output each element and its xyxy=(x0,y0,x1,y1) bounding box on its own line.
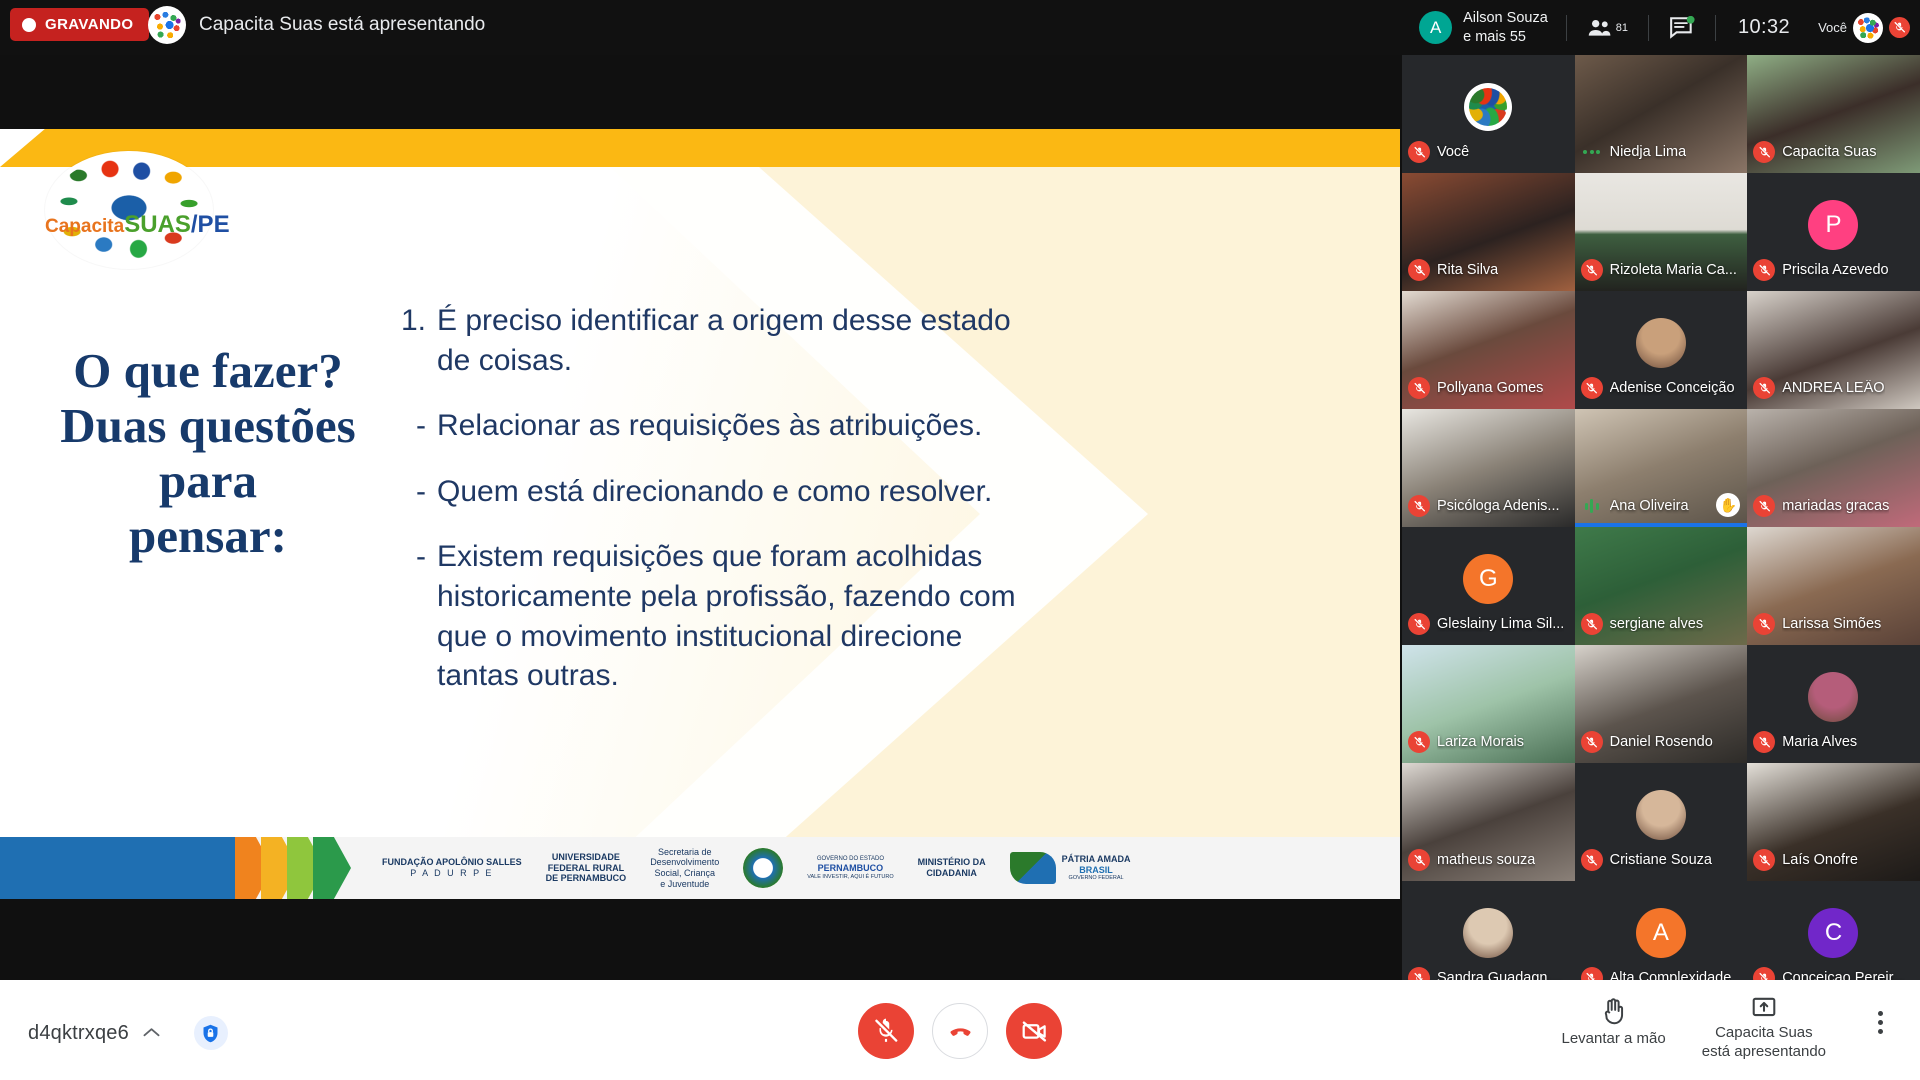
participant-tile[interactable]: Adenise Conceição xyxy=(1575,291,1748,409)
mic-off-icon xyxy=(1408,731,1430,753)
participant-name: Rita Silva xyxy=(1437,262,1498,278)
slide-footer-logos: FUNDAÇÃO APOLÔNIO SALLES P A D U R P E U… xyxy=(0,837,1400,899)
participant-name: Você xyxy=(1437,144,1469,160)
host-more-count: e mais 55 xyxy=(1463,28,1548,46)
slide: CapacitaSUAS/PE O que fazer? Duas questõ… xyxy=(0,129,1400,899)
participant-name-bar: Laís Onofre xyxy=(1747,839,1920,881)
participant-name: Lariza Morais xyxy=(1437,734,1524,750)
participant-tile[interactable]: Maria Alves xyxy=(1747,645,1920,763)
slide-logo: CapacitaSUAS/PE xyxy=(45,151,213,269)
slide-bullet-item: - Relacionar as requisições às atribuiçõ… xyxy=(392,406,1032,446)
recording-badge: GRAVANDO xyxy=(10,8,149,41)
participant-tile[interactable]: Daniel Rosendo xyxy=(1575,645,1748,763)
host-avatar: A xyxy=(1419,11,1452,44)
participant-grid[interactable]: VocêNiedja LimaCapacita SuasRita SilvaRi… xyxy=(1402,55,1920,980)
mic-off-icon xyxy=(1753,141,1775,163)
participant-avatar xyxy=(1463,908,1513,958)
footer-logo-row: FUNDAÇÃO APOLÔNIO SALLES P A D U R P E U… xyxy=(350,847,1400,889)
participant-name-bar: Maria Alves xyxy=(1747,721,1920,763)
mic-off-icon xyxy=(1753,259,1775,281)
capacita-suas-flags-icon xyxy=(45,151,213,269)
meeting-code-block[interactable]: d4qktrxqe6 xyxy=(28,1016,228,1050)
participant-tile[interactable]: Laís Onofre xyxy=(1747,763,1920,881)
participant-name: Daniel Rosendo xyxy=(1610,734,1713,750)
participant-name-bar: sergiane alves xyxy=(1575,603,1748,645)
participant-avatar xyxy=(1636,318,1686,368)
participant-name: ANDREA LEÂO xyxy=(1782,380,1884,396)
participant-tile[interactable]: Rita Silva xyxy=(1402,173,1575,291)
participant-name-bar: Niedja Lima xyxy=(1575,131,1748,173)
top-bar: GRAVANDO Capacita Suas está apresentando… xyxy=(0,0,1920,55)
participant-avatar: C xyxy=(1808,908,1858,958)
participant-tile[interactable]: Ana Oliveira✋ xyxy=(1575,409,1748,527)
participant-name: Alta Complexidade xyxy=(1610,970,1732,980)
mic-off-icon xyxy=(1753,849,1775,871)
participant-name-bar: Conceicao Pereir... xyxy=(1747,957,1920,980)
capacita-suas-logo-icon xyxy=(148,6,186,44)
kebab-menu-icon[interactable] xyxy=(1862,996,1898,1048)
participants-button[interactable]: 81 xyxy=(1567,18,1648,38)
mic-off-icon xyxy=(1581,967,1603,980)
participant-name: Sandra Guadagna... xyxy=(1437,970,1567,980)
participant-name: Maria Alves xyxy=(1782,734,1857,750)
bullet-marker: - xyxy=(392,406,426,446)
participant-tile[interactable]: CConceicao Pereir... xyxy=(1747,881,1920,980)
participant-name: Laís Onofre xyxy=(1782,852,1858,868)
footer-logo-fundacao-apolonio-salles: FUNDAÇÃO APOLÔNIO SALLES P A D U R P E xyxy=(382,857,522,878)
bullet-text: Relacionar as requisições às atribuições… xyxy=(437,406,982,446)
self-label: Você xyxy=(1818,20,1847,35)
slide-bullet-item: 1. É preciso identificar a origem desse … xyxy=(392,301,1032,380)
self-avatar xyxy=(1853,13,1883,43)
participant-name: matheus souza xyxy=(1437,852,1535,868)
participant-name-bar: Capacita Suas xyxy=(1747,131,1920,173)
mic-off-icon xyxy=(1581,849,1603,871)
participant-avatar xyxy=(1808,672,1858,722)
bullet-marker: 1. xyxy=(392,301,426,380)
participant-tile[interactable]: Pollyana Gomes xyxy=(1402,291,1575,409)
footer-logo-patria-amada-brasil: PÁTRIA AMADA BRASIL GOVERNO FEDERAL xyxy=(1010,852,1131,884)
bottom-bar: d4qktrxqe6 xyxy=(0,980,1920,1080)
participant-tile[interactable]: matheus souza xyxy=(1402,763,1575,881)
present-now-button[interactable]: Capacita Suas está apresentando xyxy=(1702,996,1826,1062)
participant-row: Pollyana GomesAdenise ConceiçãoANDREA LE… xyxy=(1402,291,1920,409)
mic-off-icon xyxy=(1408,495,1430,517)
mic-off-icon xyxy=(1753,377,1775,399)
raise-hand-button[interactable]: Levantar a mão xyxy=(1562,996,1666,1049)
mic-off-icon xyxy=(1753,613,1775,635)
meeting-code: d4qktrxqe6 xyxy=(28,1022,129,1045)
participant-row: matheus souzaCristiane SouzaLaís Onofre xyxy=(1402,763,1920,881)
participant-name-bar: Lariza Morais xyxy=(1402,721,1575,763)
participant-avatar: P xyxy=(1808,200,1858,250)
mic-off-icon xyxy=(1753,495,1775,517)
mic-off-icon xyxy=(1581,259,1603,281)
call-controls xyxy=(858,1003,1062,1059)
raise-hand-label: Levantar a mão xyxy=(1562,1030,1666,1049)
participant-name-bar: Gleslainy Lima Sil... xyxy=(1402,603,1575,645)
participant-tile[interactable]: PPriscila Azevedo xyxy=(1747,173,1920,291)
participant-tile[interactable]: mariadas gracas xyxy=(1747,409,1920,527)
participant-tile[interactable]: GGleslainy Lima Sil... xyxy=(1402,527,1575,645)
participant-tile[interactable]: Niedja Lima xyxy=(1575,55,1748,173)
participant-name-bar: Psicóloga Adenis... xyxy=(1402,485,1575,527)
participant-name-bar: Larissa Simões xyxy=(1747,603,1920,645)
bottom-right-controls: Levantar a mão Capacita Suas está aprese… xyxy=(1562,996,1899,1062)
participant-tile[interactable]: Rizoleta Maria Ca... xyxy=(1575,173,1748,291)
participant-tile[interactable]: Capacita Suas xyxy=(1747,55,1920,173)
participant-row: Rita SilvaRizoleta Maria Ca...PPriscila … xyxy=(1402,173,1920,291)
mic-off-icon xyxy=(1581,731,1603,753)
recording-label: GRAVANDO xyxy=(45,16,133,33)
bullet-text: Existem requisições que foram acolhidas … xyxy=(437,537,1032,695)
slide-bullet-item: - Existem requisições que foram acolhida… xyxy=(392,537,1032,695)
recording-dot-icon xyxy=(22,18,36,32)
participant-tile[interactable]: Larissa Simões xyxy=(1747,527,1920,645)
presentation-stage[interactable]: CapacitaSUAS/PE O que fazer? Duas questõ… xyxy=(0,129,1400,899)
participant-name: Priscila Azevedo xyxy=(1782,262,1888,278)
footer-logo-ufrpe: UNIVERSIDADE FEDERAL RURAL DE PERNAMBUCO xyxy=(546,852,627,884)
participant-name: Pollyana Gomes xyxy=(1437,380,1543,396)
host-info[interactable]: A Ailson Souza e mais 55 xyxy=(1402,9,1566,45)
participant-avatar xyxy=(1464,83,1512,131)
participant-name-bar: Pollyana Gomes xyxy=(1402,367,1575,409)
participant-name-bar: Rizoleta Maria Ca... xyxy=(1575,249,1748,291)
participant-name-bar: mariadas gracas xyxy=(1747,485,1920,527)
participant-name: Capacita Suas xyxy=(1782,144,1876,160)
audio-level-icon xyxy=(1581,495,1603,517)
participant-tile[interactable]: Psicóloga Adenis... xyxy=(1402,409,1575,527)
self-mic-off-icon xyxy=(1889,17,1910,38)
participant-tile[interactable]: Você xyxy=(1402,55,1575,173)
participant-avatar: A xyxy=(1636,908,1686,958)
mic-off-icon xyxy=(1581,377,1603,399)
presenting-indicator: Capacita Suas está apresentando xyxy=(148,6,485,44)
participant-name: Conceicao Pereir... xyxy=(1782,970,1905,980)
present-screen-icon xyxy=(1751,996,1777,1020)
footer-logo-secretaria: Secretaria de Desenvolvimento Social, Cr… xyxy=(650,847,719,889)
bullet-text: Quem está direcionando e como resolver. xyxy=(437,472,992,512)
mic-off-button[interactable] xyxy=(858,1003,914,1059)
participant-name-bar: Priscila Azevedo xyxy=(1747,249,1920,291)
chat-button[interactable] xyxy=(1649,16,1715,40)
footer-logo-governo-pernambuco: GOVERNO DO ESTADO PERNAMBUCO VALE INVEST… xyxy=(807,856,893,880)
footer-blue-block xyxy=(0,837,235,899)
logo-text-capacita: Capacita xyxy=(45,216,124,237)
participant-name: Rizoleta Maria Ca... xyxy=(1610,262,1737,278)
participant-row: GGleslainy Lima Sil...sergiane alvesLari… xyxy=(1402,527,1920,645)
clock: 10:32 xyxy=(1716,16,1812,39)
participant-name-bar: Rita Silva xyxy=(1402,249,1575,291)
slide-title: O que fazer? Duas questões para pensar: xyxy=(8,344,408,564)
audio-idle-icon xyxy=(1581,141,1603,163)
participant-tile[interactable]: ANDREA LEÂO xyxy=(1747,291,1920,409)
participant-name-bar: Alta Complexidade xyxy=(1575,957,1748,980)
participant-tile[interactable]: Sandra Guadagna... xyxy=(1402,881,1575,980)
shield-lock-icon[interactable] xyxy=(194,1016,228,1050)
mic-off-icon xyxy=(1408,849,1430,871)
mic-off-icon xyxy=(1408,613,1430,635)
host-name: Ailson Souza xyxy=(1463,9,1548,27)
mic-off-icon xyxy=(1753,967,1775,980)
self-view-chip[interactable]: Você xyxy=(1812,13,1920,43)
participant-row: Lariza MoraisDaniel RosendoMaria Alves xyxy=(1402,645,1920,763)
participant-name: mariadas gracas xyxy=(1782,498,1889,514)
logo-text-suas: SUAS xyxy=(124,211,191,238)
participant-name: Ana Oliveira xyxy=(1610,498,1689,514)
participant-name: Cristiane Souza xyxy=(1610,852,1712,868)
participant-tile[interactable]: Lariza Morais xyxy=(1402,645,1575,763)
participant-name-bar: matheus souza xyxy=(1402,839,1575,881)
chat-icon xyxy=(1669,16,1695,40)
participant-name: sergiane alves xyxy=(1610,616,1704,632)
participant-row: Psicóloga Adenis...Ana Oliveira✋mariadas… xyxy=(1402,409,1920,527)
slide-bullet-item: - Quem está direcionando e como resolver… xyxy=(392,472,1032,512)
participant-name: Niedja Lima xyxy=(1610,144,1687,160)
mic-off-icon xyxy=(1408,967,1430,980)
mic-off-icon xyxy=(1408,141,1430,163)
chevron-up-icon[interactable] xyxy=(143,1025,160,1042)
participant-name-bar: Adenise Conceição xyxy=(1575,367,1748,409)
participant-avatar xyxy=(1636,790,1686,840)
footer-pernambuco-seal-icon xyxy=(743,848,783,888)
presenting-label: Capacita Suas está apresentando xyxy=(199,14,485,36)
participant-tile[interactable]: Cristiane Souza xyxy=(1575,763,1748,881)
bullet-marker: - xyxy=(392,537,426,695)
bullet-text: É preciso identificar a origem desse est… xyxy=(437,301,1032,380)
top-bar-right-controls: A Ailson Souza e mais 55 81 xyxy=(1402,0,1920,55)
participant-avatar: G xyxy=(1463,554,1513,604)
camera-off-button[interactable] xyxy=(1006,1003,1062,1059)
hand-raised-icon: ✋ xyxy=(1716,493,1740,517)
host-name-block: Ailson Souza e mais 55 xyxy=(1463,9,1548,45)
mic-off-icon xyxy=(1581,613,1603,635)
participant-row: Sandra Guadagna...AAlta ComplexidadeCCon… xyxy=(1402,881,1920,980)
mic-off-icon xyxy=(1753,731,1775,753)
hangup-button[interactable] xyxy=(932,1003,988,1059)
mic-off-icon xyxy=(1408,377,1430,399)
participant-name-bar: Daniel Rosendo xyxy=(1575,721,1748,763)
participant-name: Larissa Simões xyxy=(1782,616,1881,632)
participant-tile[interactable]: AAlta Complexidade xyxy=(1575,881,1748,980)
participant-name-bar: Você xyxy=(1402,131,1575,173)
participant-tile[interactable]: sergiane alves xyxy=(1575,527,1748,645)
participant-row: VocêNiedja LimaCapacita Suas xyxy=(1402,55,1920,173)
participant-name-bar: Cristiane Souza xyxy=(1575,839,1748,881)
mic-off-icon xyxy=(1408,259,1430,281)
participant-name: Adenise Conceição xyxy=(1610,380,1735,396)
bullet-marker: - xyxy=(392,472,426,512)
slide-logo-text: CapacitaSUAS/PE xyxy=(45,211,213,239)
participants-count: 81 xyxy=(1616,22,1628,34)
participant-name-bar: Sandra Guadagna... xyxy=(1402,957,1575,980)
participant-name: Psicóloga Adenis... xyxy=(1437,498,1560,514)
footer-chevrons-icon xyxy=(235,837,350,899)
google-meet-window: GRAVANDO Capacita Suas está apresentando… xyxy=(0,0,1920,1080)
present-label: Capacita Suas está apresentando xyxy=(1702,1024,1826,1062)
slide-bullet-list: 1. É preciso identificar a origem desse … xyxy=(392,301,1032,722)
participant-name-bar: ANDREA LEÂO xyxy=(1747,367,1920,409)
participant-name: Gleslainy Lima Sil... xyxy=(1437,616,1564,632)
people-icon xyxy=(1587,18,1613,38)
logo-text-pe: /PE xyxy=(191,211,230,238)
brasil-flag-icon xyxy=(1010,852,1056,884)
footer-logo-ministerio-cidadania: MINISTÉRIO DA CIDADANIA xyxy=(918,857,986,878)
raise-hand-icon xyxy=(1600,996,1628,1026)
